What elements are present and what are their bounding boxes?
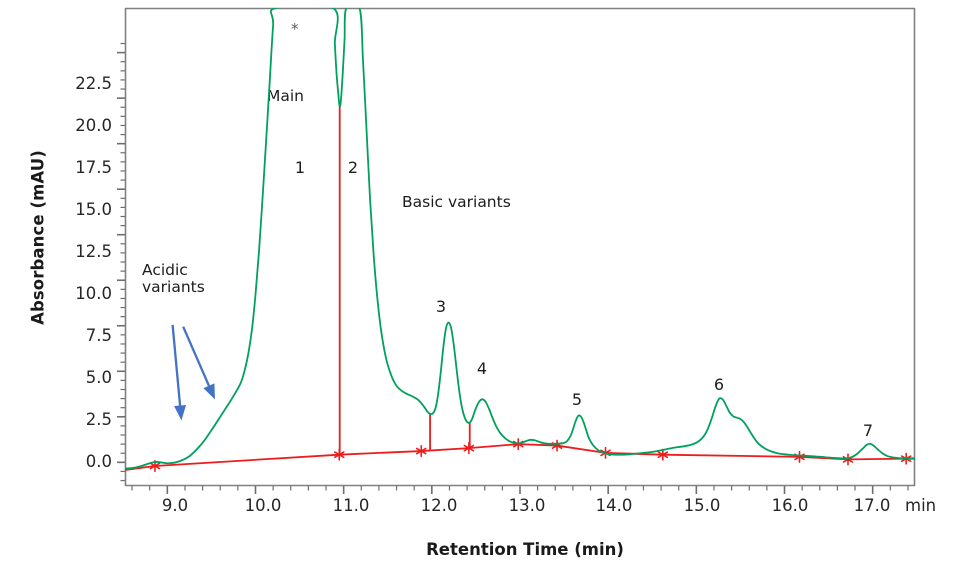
integration-baseline-trace <box>125 444 915 470</box>
axis-spines <box>125 8 915 486</box>
x-axis-ticks <box>132 486 908 494</box>
acidic-arrow-left-head <box>174 405 186 420</box>
absorbance-signal-trace <box>125 3 915 469</box>
y-axis-ticks <box>117 44 125 481</box>
acidic-arrow-right-head <box>203 383 214 399</box>
plot-canvas <box>0 0 960 575</box>
acidic-arrow-right <box>183 327 209 386</box>
acidic-arrow-left <box>173 325 180 406</box>
peak-drop-lines <box>340 106 470 454</box>
chromatogram-figure: Absorbance (mAU) Retention Time (min) 0.… <box>0 0 960 575</box>
acidic-variant-arrows <box>173 325 215 421</box>
